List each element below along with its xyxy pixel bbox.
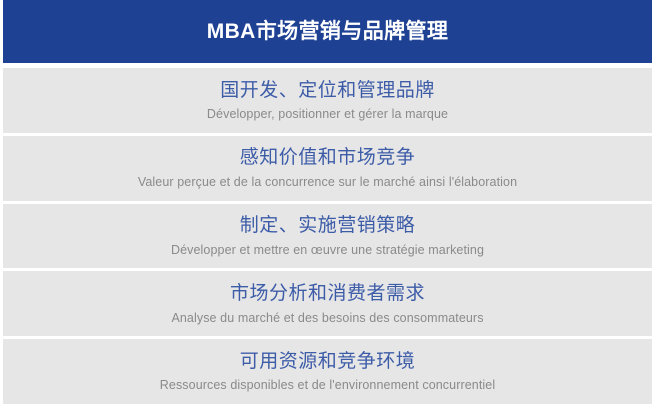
topic-list: 国开发、定位和管理品牌 Développer, positionner et g…	[3, 68, 652, 404]
list-item-title: 国开发、定位和管理品牌	[220, 79, 435, 103]
list-item-title: 感知价值和市场竞争	[240, 146, 416, 170]
mba-marketing-board: MBA市场营销与品牌管理 国开发、定位和管理品牌 Développer, pos…	[0, 0, 658, 404]
list-item-title: 制定、实施营销策略	[240, 214, 416, 238]
list-item[interactable]: 制定、实施营销策略 Développer et mettre en œuvre …	[3, 204, 652, 269]
list-item-title: 可用资源和竞争环境	[240, 350, 416, 374]
list-item-title: 市场分析和消费者需求	[230, 282, 425, 306]
list-item-subtitle: Valeur perçue et de la concurrence sur l…	[138, 175, 517, 190]
list-item[interactable]: 可用资源和竞争环境 Ressources disponibles et de l…	[3, 339, 652, 404]
list-item[interactable]: 市场分析和消费者需求 Analyse du marché et des beso…	[3, 271, 652, 336]
list-item-subtitle: Ressources disponibles et de l'environne…	[160, 378, 495, 393]
list-item[interactable]: 国开发、定位和管理品牌 Développer, positionner et g…	[3, 68, 652, 133]
list-item[interactable]: 感知价值和市场竞争 Valeur perçue et de la concurr…	[3, 136, 652, 201]
board-header: MBA市场营销与品牌管理	[3, 0, 652, 63]
list-item-subtitle: Analyse du marché et des besoins des con…	[171, 311, 483, 326]
list-item-subtitle: Développer, positionner et gérer la marq…	[207, 107, 448, 122]
list-item-subtitle: Développer et mettre en œuvre une straté…	[171, 243, 484, 258]
page-title: MBA市场营销与品牌管理	[207, 21, 449, 42]
